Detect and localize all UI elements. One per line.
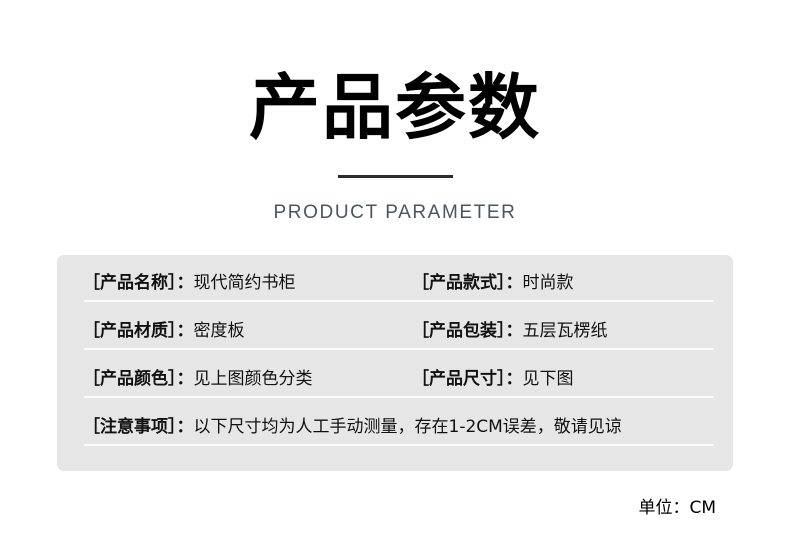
- unit-label: 单位：: [638, 498, 689, 518]
- spec-row: ［注意事项］：以下尺寸均为人工手动测量，存在1-2CM误差，敬请见谅: [57, 409, 733, 454]
- spec-label: ［产品颜色］：: [83, 369, 194, 389]
- spec-value: 密度板: [194, 321, 245, 341]
- spec-item-product-name: ［产品名称］：现代简约书柜: [83, 270, 296, 296]
- spec-value: 五层瓦楞纸: [523, 321, 608, 341]
- spec-label: ［注意事项］：: [83, 417, 194, 437]
- spec-item-product-packaging: ［产品包装］：五层瓦楞纸: [412, 318, 608, 344]
- spec-value: 见上图颜色分类: [194, 369, 313, 389]
- unit-value: CM: [689, 498, 716, 518]
- spec-item-product-size: ［产品尺寸］：见下图: [412, 366, 574, 392]
- spec-value: 现代简约书柜: [194, 273, 296, 293]
- spec-label: ［产品款式］：: [412, 273, 523, 293]
- row-divider: [84, 300, 714, 302]
- spec-item-product-style: ［产品款式］：时尚款: [412, 270, 574, 296]
- unit-note: 单位：CM: [638, 496, 716, 520]
- spec-label: ［产品包装］：: [412, 321, 523, 341]
- title-underline-rule: [338, 175, 453, 178]
- page-title: 产品参数: [0, 66, 790, 150]
- page-subtitle: PRODUCT PARAMETER: [0, 201, 790, 225]
- spec-label: ［产品名称］：: [83, 273, 194, 293]
- spec-value: 以下尺寸均为人工手动测量，存在1-2CM误差，敬请见谅: [194, 417, 622, 437]
- specification-panel: ［产品名称］：现代简约书柜 ［产品款式］：时尚款 ［产品材质］：密度板 ［产品包…: [57, 255, 733, 471]
- row-divider: [84, 348, 714, 350]
- spec-value: 时尚款: [523, 273, 574, 293]
- row-divider: [84, 396, 714, 398]
- row-divider: [84, 444, 714, 446]
- spec-value: 见下图: [523, 369, 574, 389]
- spec-label: ［产品材质］：: [83, 321, 194, 341]
- spec-item-notice: ［注意事项］：以下尺寸均为人工手动测量，存在1-2CM误差，敬请见谅: [83, 414, 622, 440]
- spec-row: ［产品名称］：现代简约书柜 ［产品款式］：时尚款: [57, 265, 733, 310]
- product-parameter-page: 产品参数 PRODUCT PARAMETER ［产品名称］：现代简约书柜 ［产品…: [0, 0, 790, 534]
- spec-label: ［产品尺寸］：: [412, 369, 523, 389]
- spec-item-product-color: ［产品颜色］：见上图颜色分类: [83, 366, 313, 392]
- spec-item-product-material: ［产品材质］：密度板: [83, 318, 245, 344]
- spec-row: ［产品颜色］：见上图颜色分类 ［产品尺寸］：见下图: [57, 361, 733, 406]
- spec-row: ［产品材质］：密度板 ［产品包装］：五层瓦楞纸: [57, 313, 733, 358]
